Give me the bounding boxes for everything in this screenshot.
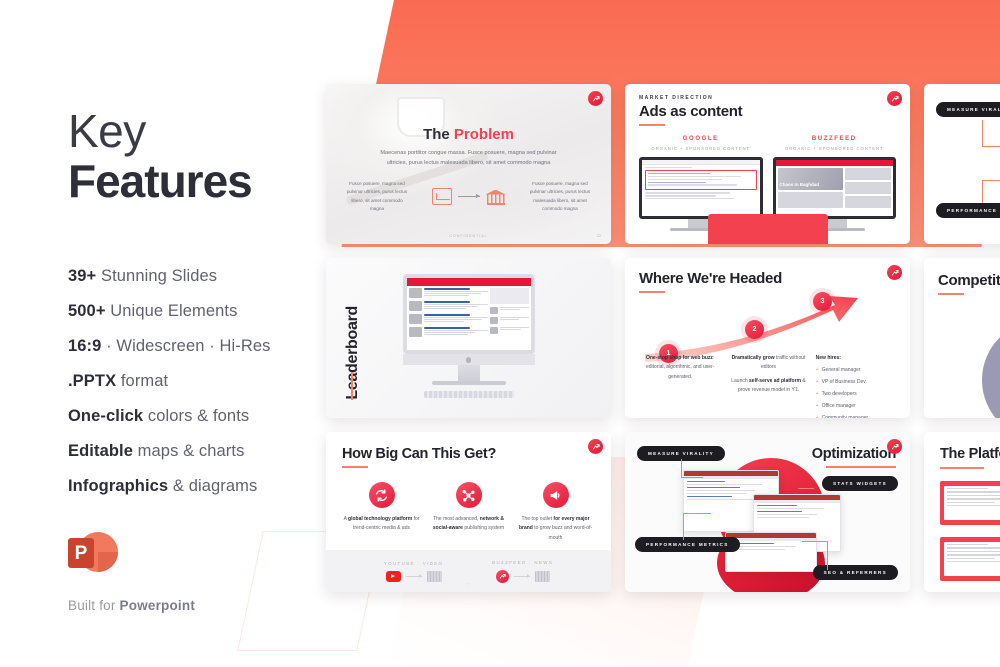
ads-note-google: ORGANIC + SPONSORED CONTENT (639, 146, 763, 151)
problem-footer: CONFIDENTIAL (326, 234, 611, 238)
buzzfeed-header-bar (407, 278, 531, 286)
connector-line (982, 120, 983, 146)
ads-brand-buzzfeed: BUZZFEED (773, 136, 897, 142)
problem-content: The Problem Maecenas porttitor congue ma… (326, 84, 611, 244)
footer-label-youtube: YOUTUBE : VIDEO (384, 561, 444, 566)
page-title-line2: Features (68, 156, 330, 208)
buzzfeed-sidebar-column (490, 288, 528, 340)
step-2-marker: 2 (745, 320, 764, 339)
connector-line (982, 180, 1000, 181)
competitors-pie-chart (982, 320, 1000, 418)
optimization-accent-rule (826, 466, 896, 468)
problem-diagram (432, 188, 506, 206)
slide-thumbnail-leaderboard[interactable]: Leaderboard (326, 258, 611, 418)
howbig-title: How Big Can This Get? (342, 446, 595, 462)
pill-performance-metrics: PERFORMANCE METRICS (635, 537, 740, 552)
platform-card-2-preview (944, 542, 1000, 576)
buzzfeed-badge-icon (887, 439, 902, 454)
leaderboard-title: Leaderboard (344, 306, 362, 400)
apple-logo-icon (466, 357, 471, 363)
slide-thumbnail-the-platform[interactable]: The Platform (924, 432, 1000, 592)
buzzfeed-badge-icon (588, 91, 603, 106)
problem-column-right: Fusce posuere, magna sed pulvinar ultric… (529, 180, 591, 214)
feature-item-aspect-ratio: 16:9 · Widescreen · Hi-Res (68, 338, 330, 355)
howbig-text-2: The most advanced, network & social-awar… (429, 515, 508, 534)
chart-icon (432, 188, 452, 205)
buzzfeed-badge-icon (496, 570, 509, 583)
howbig-text-3: The top outlet for every major brand to … (516, 515, 595, 543)
competitors-accent-bar (938, 293, 964, 295)
bank-icon (486, 188, 506, 206)
hires-item: Two developers (816, 390, 898, 399)
slide-thumbnail-optimization[interactable]: Optimization MEASURE VIRALITY STATS WIDG… (625, 432, 910, 592)
problem-columns: Fusce posuere, magna sed pulvinar ultric… (342, 180, 595, 214)
monitor-screen (639, 157, 763, 219)
connector-line (683, 513, 711, 514)
feature-list: 39+ Stunning Slides 500+ Unique Elements… (68, 268, 330, 495)
howbig-column-2: The most advanced, network & social-awar… (429, 482, 508, 543)
ads-pedestal-decoration (708, 214, 828, 244)
feature-item-format: .PPTX format (68, 373, 330, 390)
ads-note-buzzfeed: ORGANIC + SPONSORED CONTENT (773, 146, 897, 151)
hires-item: General manager (816, 366, 898, 375)
slide-thumbnail-how-big-can-this-get[interactable]: How Big Can This Get? A global technolog… (326, 432, 611, 592)
platform-accent-rule (940, 467, 984, 469)
feature-item-infographics: Infographics & diagrams (68, 478, 330, 495)
connector-line (802, 541, 828, 542)
ads-kicker: MARKET DIRECTION (639, 95, 896, 101)
step-3-marker: 3 (813, 292, 832, 311)
footer-label-buzzfeed: BUZZFEED : NEWS (492, 560, 553, 565)
hires-item: Office manager (816, 402, 898, 411)
arrow-icon (406, 576, 422, 577)
buzzfeed-badge-icon (887, 91, 902, 106)
headed-column-hires: New hires: General manager VP of Busines… (816, 354, 898, 418)
ads-accent-bar (639, 124, 665, 126)
google-results (642, 165, 760, 203)
footer-row-youtube (384, 571, 444, 582)
slide-thumbnail-ads-as-content[interactable]: MARKET DIRECTION Ads as content GOOGLE O… (625, 84, 910, 244)
optimization-title: Optimization (812, 446, 896, 462)
footer-divider: :: (465, 582, 470, 588)
leaderboard-accent-rule (351, 372, 353, 400)
imac-chin (403, 354, 535, 365)
platform-card-2 (940, 537, 1000, 581)
monitor-screen: Chaos In Baghdad (773, 157, 897, 219)
imac-screen (403, 274, 535, 354)
news-icon (535, 571, 550, 582)
pill-measure-virality: MEASURE VIRALITY (936, 102, 1000, 117)
headed-columns: One-stop shop for web buzz: editorial, a… (639, 354, 898, 418)
footer-buzzfeed-news: BUZZFEED : NEWS (492, 560, 553, 583)
feature-item-slides: 39+ Stunning Slides (68, 268, 330, 285)
dashboard-window-3 (725, 532, 817, 572)
imac-base (432, 381, 506, 385)
imac-stand (458, 365, 480, 381)
footer-row-buzzfeed (492, 570, 553, 583)
problem-title: The Problem (342, 126, 595, 143)
hires-item: VP of Business Dev. (816, 378, 898, 387)
refresh-icon (369, 482, 395, 508)
film-icon (427, 571, 442, 582)
page-title-line1: Key (68, 108, 330, 154)
howbig-text-1: A global technology platform for trend-c… (342, 515, 421, 534)
problem-page-number: 22 (597, 234, 601, 238)
connector-line (982, 146, 1000, 147)
imac-mockup (403, 274, 535, 398)
buzzfeed-badge-icon (588, 439, 603, 454)
connector-line (681, 459, 682, 477)
platform-card-1 (940, 481, 1000, 525)
howbig-column-1: A global technology platform for trend-c… (342, 482, 421, 543)
buzzfeed-columns (407, 286, 531, 342)
competitors-title: Competitors (938, 272, 1000, 289)
pill-seo-referrers: SEO & REFERRERS (813, 565, 898, 580)
pill-performance-metrics: PERFORMANCE METRICS (936, 203, 1000, 218)
problem-subtitle: Maecenas porttitor congue massa. Fusce p… (342, 149, 595, 169)
connector-line (798, 488, 814, 489)
network-icon (456, 482, 482, 508)
footer-youtube-video: YOUTUBE : VIDEO (384, 561, 444, 582)
buzzfeed-main-column (409, 288, 489, 340)
buzzfeed-hero-image: Chaos In Baghdad (778, 168, 843, 190)
howbig-accent-bar (342, 466, 368, 468)
keyboard-mockup (424, 391, 514, 398)
slide-thumbnail-the-problem[interactable]: The Problem Maecenas porttitor congue ma… (326, 84, 611, 244)
problem-column-left: Fusce posuere, magna sed pulvinar ultric… (346, 180, 408, 214)
howbig-columns: A global technology platform for trend-c… (342, 482, 595, 543)
youtube-icon (386, 571, 401, 582)
hires-item: Community manager (816, 414, 898, 418)
feature-item-elements: 500+ Unique Elements (68, 303, 330, 320)
connector-line (681, 477, 703, 478)
left-info-panel: Key Features 39+ Stunning Slides 500+ Un… (0, 0, 330, 667)
howbig-column-3: The top outlet for every major brand to … (516, 482, 595, 543)
hires-title: New hires: (816, 354, 898, 363)
arrow-icon (458, 196, 480, 197)
platform-title: The Platform (940, 446, 1000, 462)
connector-line (827, 542, 828, 570)
hires-list: General manager VP of Business Dev. Two … (816, 366, 898, 418)
ads-brand-google: GOOGLE (639, 136, 763, 142)
slide-thumbnail-grid: The Problem Maecenas porttitor congue ma… (326, 84, 1000, 592)
slide-thumbnail-where-were-headed[interactable]: Where We're Headed 1 2 3 One-stop shop f… (625, 258, 910, 418)
headed-column-1: One-stop shop for web buzz: editorial, a… (639, 354, 721, 418)
ads-title: Ads as content (639, 103, 896, 120)
howbig-footer: YOUTUBE : VIDEO :: BUZZFEED : NEWS (326, 550, 611, 592)
headed-column-2: Dramatically grow traffic without editor… (727, 354, 809, 418)
buzzfeed-badge-icon (887, 265, 902, 280)
connector-line (683, 514, 684, 540)
feature-item-one-click: One-click colors & fonts (68, 408, 330, 425)
platform-card-1-preview (944, 486, 1000, 520)
megaphone-icon (543, 482, 569, 508)
pill-stats-widgets: STATS WIDGETS (822, 476, 898, 491)
slide-thumbnail-measure-virality[interactable]: MEASURE VIRALITY PERFORMANCE METRICS (924, 84, 1000, 244)
slide-thumbnail-competitors[interactable]: Competitors (924, 258, 1000, 418)
arrow-icon (514, 576, 530, 577)
feature-item-editable: Editable maps & charts (68, 443, 330, 460)
